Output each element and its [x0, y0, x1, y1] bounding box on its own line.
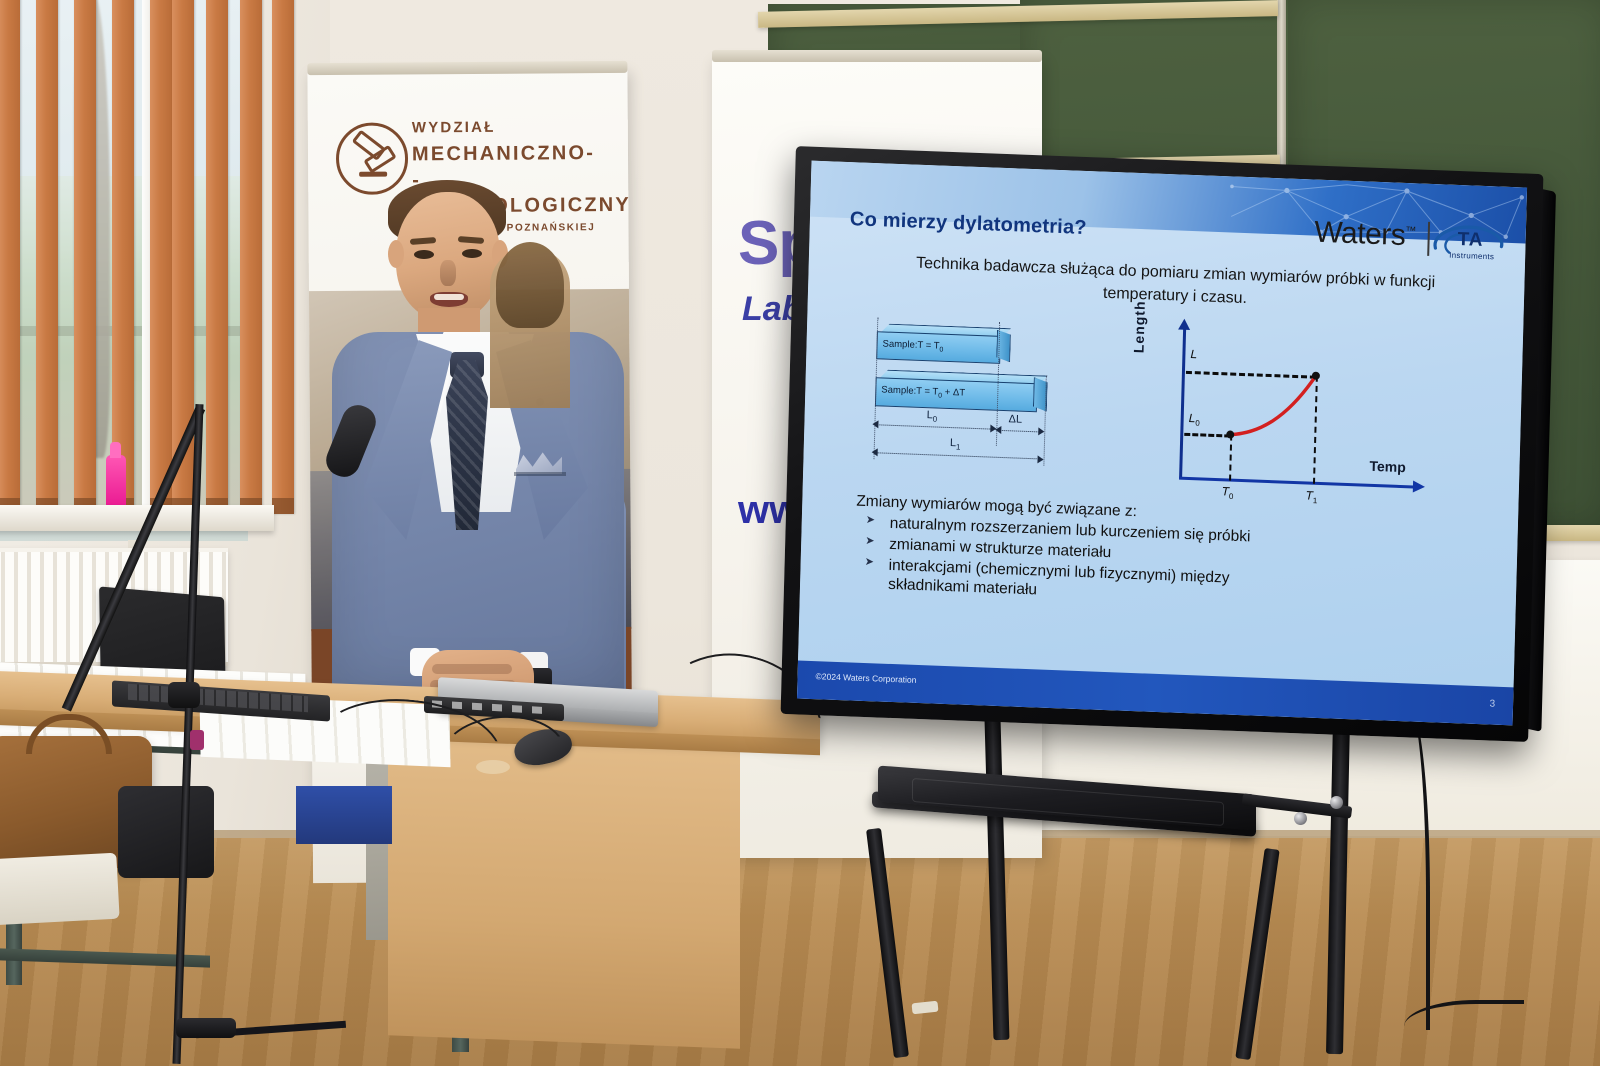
dim-label-dL: ΔL [1008, 413, 1022, 426]
black-bag [118, 786, 214, 878]
faculty-line-1: WYDZIAŁ [412, 117, 622, 138]
slide-bullet-block: Zmiany wymiarów mogą być związane z: nat… [854, 493, 1286, 610]
spray-bottle [106, 455, 126, 511]
robot-arm-base [359, 172, 387, 177]
chart-xtick-T1: T1 [1305, 488, 1317, 505]
person-background [490, 248, 570, 408]
presentation-slide: Co mierzy dylatometria? Waters™ TA Instr… [797, 161, 1527, 726]
dim-line-L1 [875, 452, 1043, 459]
chart-xtick-T0: T0 [1221, 484, 1233, 501]
ear-left [388, 240, 404, 268]
blind-slat[interactable] [240, 0, 262, 514]
banner-top-rail [712, 50, 1042, 62]
dim-label-L0: L0 [926, 409, 937, 424]
dim-arrow [995, 426, 1001, 434]
sample-label-2-text: Sample:T = T [881, 384, 938, 397]
banner-top-rail [307, 61, 627, 75]
sample-bar-1-label: Sample:T = T0 [882, 338, 943, 353]
dim-line-L0 [875, 424, 996, 430]
breast-pocket [514, 472, 566, 476]
ytick-L0-sub: 0 [1195, 419, 1200, 428]
chart-ytick-L0: L0 [1188, 411, 1200, 428]
blind-slat[interactable] [112, 0, 134, 514]
desk-side-panel [388, 735, 740, 1049]
dim-arrow [872, 420, 878, 428]
slide-number: 3 [1489, 698, 1495, 709]
dim-line-dL [998, 430, 1043, 433]
xtick-T1-sub: 1 [1313, 496, 1318, 505]
microphone-stand-foot [176, 1018, 236, 1038]
sample-expansion-diagram: Sample:T = T0 Sample:T = T0 + ΔT L0 [863, 313, 1118, 497]
microphone-adjust-knob[interactable] [190, 730, 204, 750]
copyright-text: ©2024 Waters Corporation [815, 671, 916, 685]
xtick-T0-sub: 0 [1229, 492, 1234, 501]
blind-slat[interactable] [272, 0, 294, 514]
waters-logo: Waters™ [1314, 216, 1416, 254]
blind-slat[interactable] [150, 0, 172, 514]
mouth [430, 292, 468, 307]
slide-lead-paragraph: Technika badawcza służąca do pomiaru zmi… [880, 251, 1471, 319]
waters-tm: ™ [1405, 225, 1416, 237]
faculty-line-2: MECHANICZNO- [412, 139, 622, 166]
window-sill [0, 505, 274, 531]
chart-ytick-L: L [1190, 347, 1197, 361]
finger [432, 664, 512, 674]
blind-slat[interactable] [36, 0, 58, 514]
desk-mark [476, 760, 510, 774]
floor-item [0, 853, 120, 926]
ta-instruments-subtext: Instruments [1449, 251, 1494, 262]
sample-label-1-text: Sample:T = T [882, 338, 939, 351]
ta-instruments-logo: TA Instruments [1427, 222, 1512, 265]
eye-right [462, 249, 482, 258]
dim-arrow [872, 448, 878, 456]
chart-curve [1132, 321, 1437, 512]
cart-bolt [1330, 796, 1343, 809]
blind-slat[interactable] [74, 0, 96, 514]
length-vs-temp-chart: Length Temp [1132, 321, 1437, 512]
tv-screen-content: Co mierzy dylatometria? Waters™ TA Instr… [797, 161, 1527, 726]
dim-L0-sub: 0 [933, 415, 938, 424]
sample-label-2-suffix: + ΔT [942, 387, 965, 399]
blind-slat[interactable] [0, 0, 20, 514]
sample-label-1-sub: 0 [939, 346, 943, 353]
dim-arrow [1037, 455, 1043, 463]
blue-box-on-floor [296, 786, 392, 844]
waters-wordmark: Waters [1314, 216, 1406, 252]
display-screen[interactable]: Co mierzy dylatometria? Waters™ TA Instr… [781, 146, 1544, 742]
dim-arrow [1038, 427, 1044, 435]
dim-label-L1: L1 [950, 437, 961, 452]
cart-bolt [1294, 812, 1307, 825]
speaker-person [330, 182, 630, 742]
presentation-room-photo: WYDZIAŁ MECHANICZNO- -TECHNOLOGICZNY POL… [0, 0, 1600, 1066]
blind-slat[interactable] [206, 0, 228, 514]
eye-left [414, 250, 434, 259]
dim-L1-sub: 1 [956, 442, 961, 451]
nose [440, 260, 456, 286]
microphone-clamp[interactable] [168, 682, 200, 708]
ta-wordmark: TA [1457, 229, 1484, 252]
